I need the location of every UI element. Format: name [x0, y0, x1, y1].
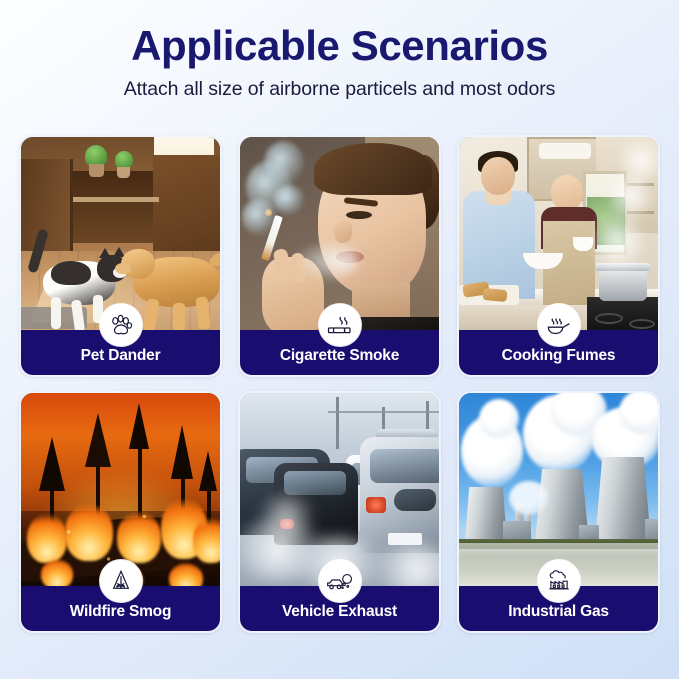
paw-icon: [100, 304, 142, 346]
scene-illustration-wildfire: [21, 393, 220, 586]
card-photo-wildfire-smog: [21, 393, 220, 586]
card-photo-cooking-fumes: [459, 137, 658, 330]
car-exhaust-icon: [319, 560, 361, 602]
cigarette-icon: [319, 304, 361, 346]
card-photo-pet-dander: [21, 137, 220, 330]
page-subtitle: Attach all size of airborne particels an…: [0, 78, 679, 101]
page-title: Applicable Scenarios: [0, 22, 679, 69]
scenario-card-pet-dander[interactable]: Pet Dander: [19, 135, 222, 377]
scenario-card-vehicle-exhaust[interactable]: Vehicle Exhaust: [238, 391, 441, 633]
scenario-card-industrial-gas[interactable]: Industrial Gas: [457, 391, 660, 633]
scenario-card-cigarette-smoke[interactable]: Cigarette Smoke: [238, 135, 441, 377]
card-photo-cigarette-smoke: [240, 137, 439, 330]
scenario-card-wildfire-smog[interactable]: Wildfire Smog: [19, 391, 222, 633]
scenario-card-grid: Pet Dander Cigarette: [19, 135, 660, 640]
scene-illustration-power-plant: [459, 393, 658, 586]
scene-illustration-kitchen: [459, 137, 658, 330]
scene-illustration-smoker: [240, 137, 439, 330]
card-photo-industrial-gas: [459, 393, 658, 586]
factory-icon: [538, 560, 580, 602]
scene-illustration-living-room: [21, 137, 220, 330]
scene-illustration-traffic: [240, 393, 439, 586]
wildfire-trees-icon: [100, 560, 142, 602]
card-photo-vehicle-exhaust: [240, 393, 439, 586]
page-header: Applicable Scenarios Attach all size of …: [0, 0, 679, 101]
cooking-pan-icon: [538, 304, 580, 346]
scenario-card-cooking-fumes[interactable]: Cooking Fumes: [457, 135, 660, 377]
